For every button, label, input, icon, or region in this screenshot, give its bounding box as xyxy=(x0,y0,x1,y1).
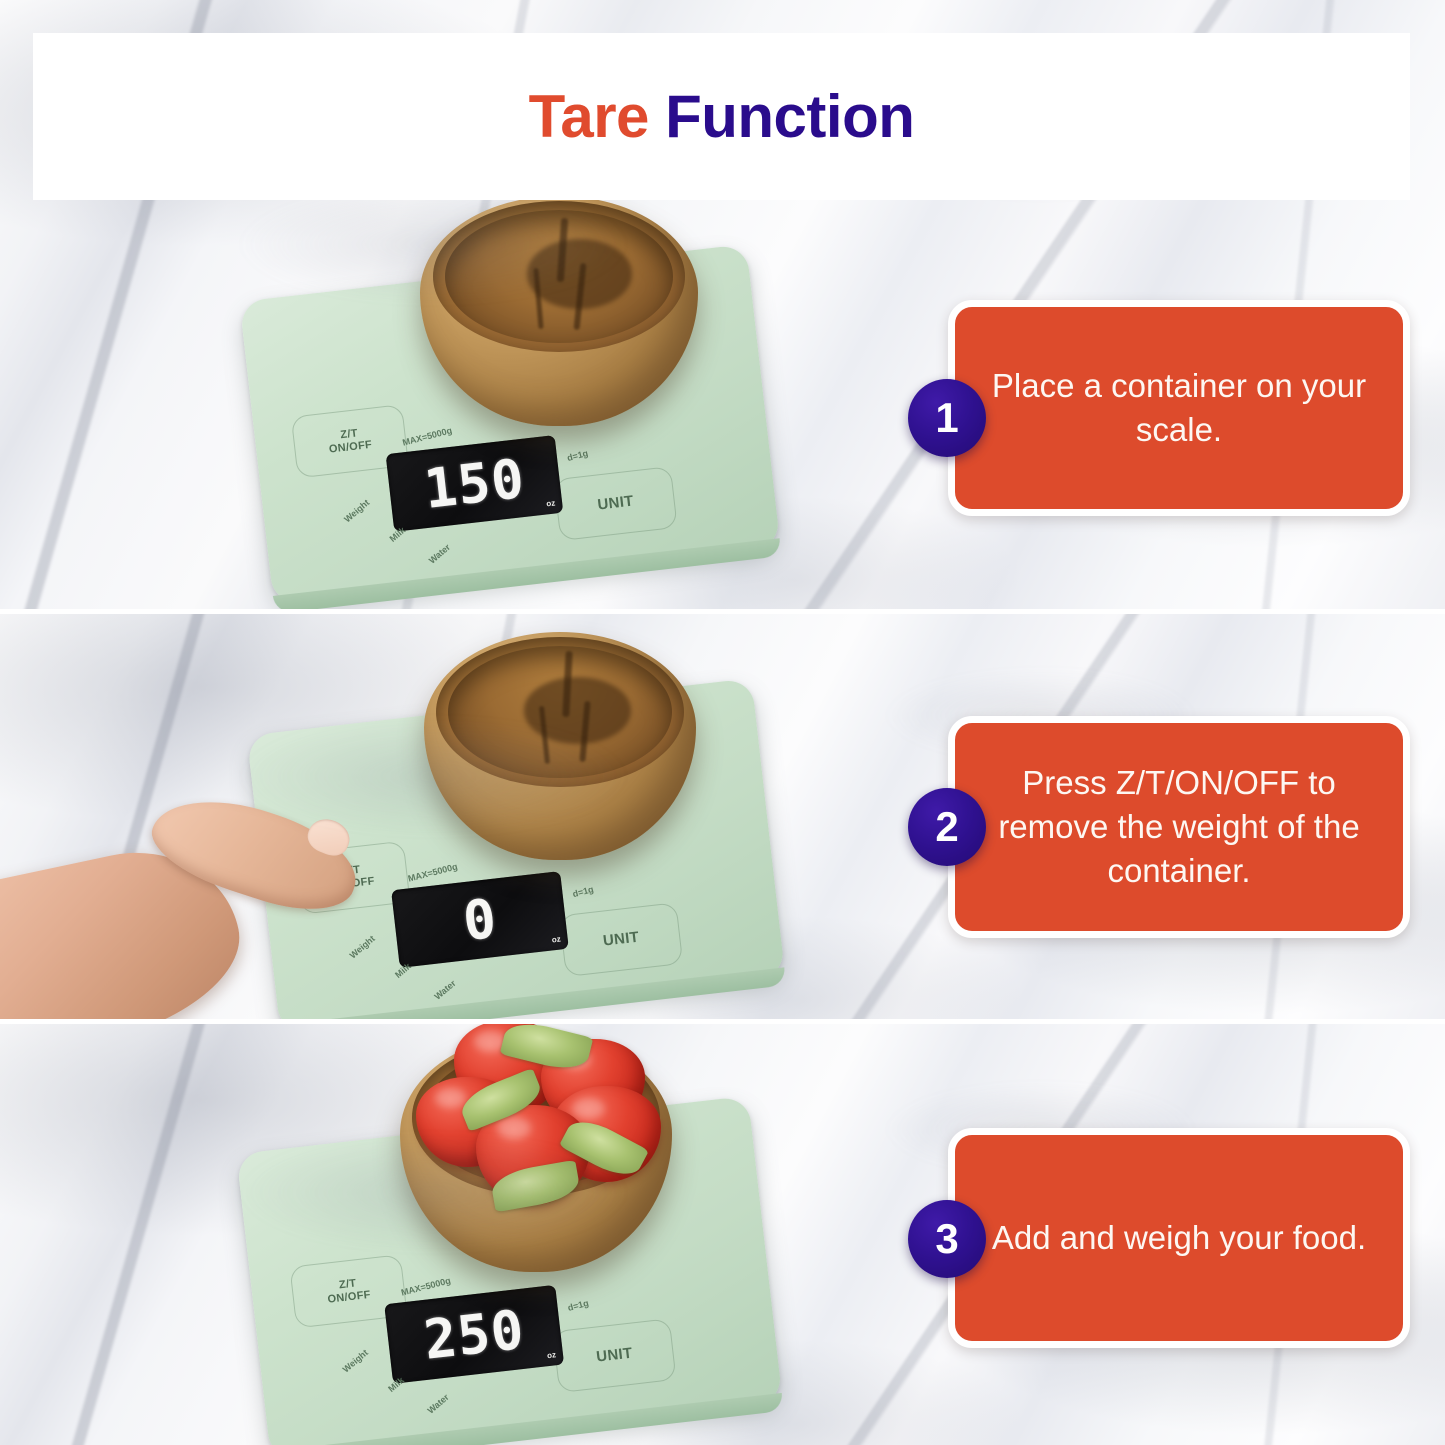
callout-text-step-1: Place a container on your scale. xyxy=(955,364,1403,452)
lcd-division-label-2: d=1g xyxy=(572,884,595,899)
callout-box-step-3: Add and weigh your food. xyxy=(948,1128,1410,1348)
scale-edge xyxy=(270,1393,784,1445)
lcd-mode-milk-3: Milk xyxy=(386,1375,406,1394)
step-badge-number-2: 2 xyxy=(935,803,958,851)
unit-button-1[interactable]: UNIT xyxy=(553,466,677,541)
callout-box-step-1: Place a container on your scale. xyxy=(948,300,1410,516)
infographic-stage: Z/T ON/OFF UNIT 150 oz MAX=5000g d=1g We… xyxy=(0,0,1445,1445)
step-badge-1: 1 xyxy=(908,379,986,457)
scale-edge xyxy=(273,538,782,611)
title-word-tare: Tare xyxy=(529,83,649,150)
lcd-max-label-3: MAX=5000g xyxy=(400,1275,452,1297)
header-band: Tare Function xyxy=(33,33,1410,200)
panel-divider xyxy=(0,609,1445,614)
lcd-max-label-1: MAX=5000g xyxy=(401,425,453,447)
lcd-division-label-1: d=1g xyxy=(566,448,589,463)
unit-button-2[interactable]: UNIT xyxy=(559,902,683,977)
callout-box-step-2: Press Z/T/ON/OFF to remove the weight of… xyxy=(948,716,1410,938)
bowl-interior xyxy=(448,646,671,778)
callout-text-step-2: Press Z/T/ON/OFF to remove the weight of… xyxy=(955,761,1403,894)
lcd-mode-weight-2: Weight xyxy=(348,933,377,960)
lcd-unit-3: oz xyxy=(547,1350,557,1360)
step-badge-number-3: 3 xyxy=(935,1215,958,1263)
lcd-unit-1: oz xyxy=(546,498,556,508)
unit-button-label: UNIT xyxy=(597,493,635,514)
lcd-max-label-2: MAX=5000g xyxy=(407,861,459,883)
lcd-display-1: 150 oz xyxy=(386,435,564,532)
bowl-interior xyxy=(445,210,673,343)
tare-button-label-line2: ON/OFF xyxy=(328,439,373,456)
lcd-division-label-3: d=1g xyxy=(567,1298,590,1313)
lcd-display-2: 0 oz xyxy=(391,871,569,968)
tare-button-label-line2: ON/OFF xyxy=(327,1289,372,1306)
callout-text-step-3: Add and weigh your food. xyxy=(964,1216,1394,1260)
unit-button-3[interactable]: UNIT xyxy=(552,1318,676,1393)
unit-button-label: UNIT xyxy=(602,929,640,950)
lcd-mode-water-3: Water xyxy=(426,1392,451,1416)
step-badge-number-1: 1 xyxy=(935,394,958,442)
panel-divider xyxy=(0,1019,1445,1024)
scale-edge xyxy=(280,967,787,1020)
lcd-mode-water-2: Water xyxy=(432,978,457,1002)
lcd-mode-milk-2: Milk xyxy=(393,961,413,980)
lcd-mode-weight-3: Weight xyxy=(341,1347,370,1374)
lcd-unit-2: oz xyxy=(551,935,561,945)
lcd-display-3: 250 oz xyxy=(384,1285,564,1384)
lcd-value-2: 0 xyxy=(460,886,500,952)
lcd-mode-water-1: Water xyxy=(427,542,452,566)
lcd-mode-weight-1: Weight xyxy=(342,497,371,524)
page-title: Tare Function xyxy=(529,87,915,147)
lcd-value-1: 150 xyxy=(421,446,528,520)
step-badge-2: 2 xyxy=(908,788,986,866)
title-word-function: Function xyxy=(665,83,914,150)
unit-button-label: UNIT xyxy=(595,1345,633,1366)
step-badge-3: 3 xyxy=(908,1200,986,1278)
lcd-value-3: 250 xyxy=(421,1297,528,1371)
lcd-mode-milk-1: Milk xyxy=(388,525,408,544)
